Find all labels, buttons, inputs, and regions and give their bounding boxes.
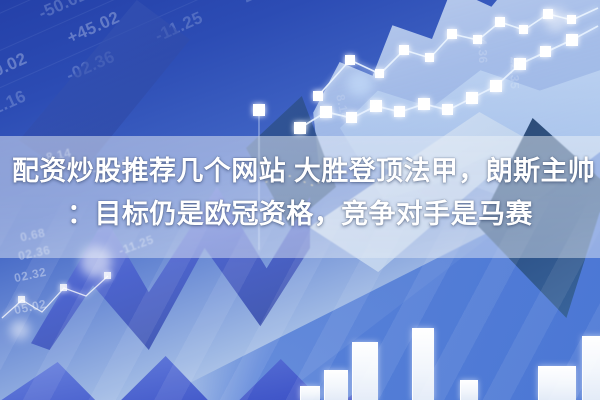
headline-line-1: 配资炒股推荐几个网站 大胜登顶法甲，朗斯主帅 bbox=[12, 150, 588, 193]
stock-news-banner: 2.06 -50.02 -05.02 -02.36 21.06 1.39 -11… bbox=[0, 0, 600, 400]
faint-number: 4.36 bbox=[475, 38, 490, 64]
faint-number: 22.35 bbox=[507, 57, 521, 90]
light-glow bbox=[347, 71, 373, 97]
headline-line-2: ：目标仍是欧冠资格，竞争对手是马赛 bbox=[12, 193, 588, 236]
headline: 配资炒股推荐几个网站 大胜登顶法甲，朗斯主帅 ：目标仍是欧冠资格，竞争对手是马赛 bbox=[0, 150, 600, 236]
chart-marker bbox=[253, 104, 265, 116]
chart-markers-lower bbox=[294, 34, 578, 134]
light-glow bbox=[10, 320, 30, 340]
light-glow bbox=[544, 8, 568, 32]
